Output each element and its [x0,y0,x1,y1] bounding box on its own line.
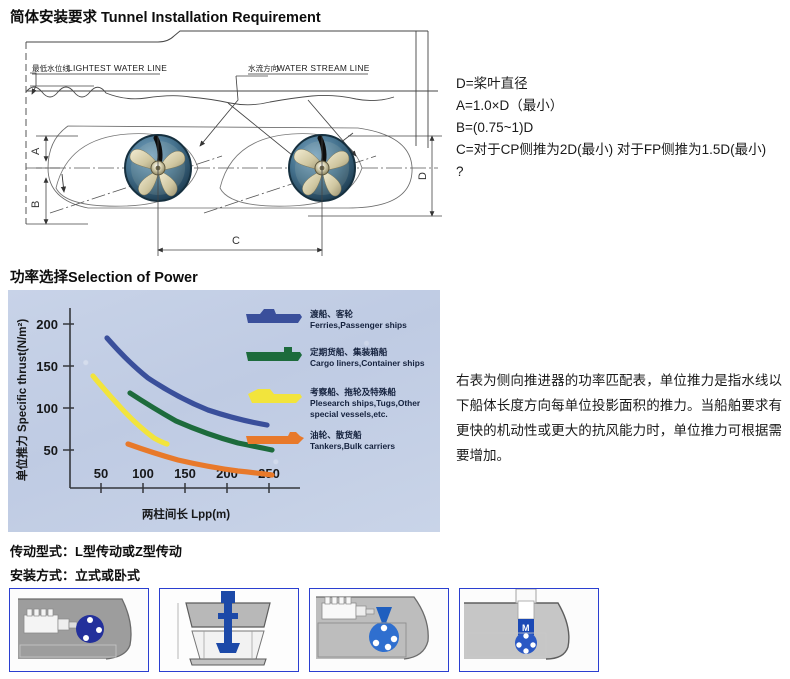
svg-text:M: M [522,623,530,633]
chart-svg: 200 150 100 50 50 100 150 200 250 单位推力 S… [8,290,440,532]
tunnel-spec-list: D=桨叶直径 A=1.0×D（最小） B=(0.75~1)D C=对于CP侧推为… [456,73,786,183]
legend-label-cn-ferries: 渡船、客轮 [310,308,353,320]
x-tick-100: 100 [132,466,154,481]
spec-line-c: C=对于CP侧推为2D(最小) 对于FP侧推为1.5D(最小) [456,139,786,161]
y-tick-50: 50 [44,443,58,458]
legend-label-en-tankers: Tankers,Bulk carriers [310,441,395,451]
transmission-type-line: 传动型式：L型传动或Z型传动 [10,541,182,560]
specific-thrust-chart: 200 150 100 50 50 100 150 200 250 单位推力 S… [8,290,440,532]
tug-silhouette-icon [248,389,302,403]
dimension-a-label: A [30,147,42,155]
thumbnail-horizontal-engine-side-thruster[interactable] [9,588,149,672]
y-axis-title: 单位推力 Specific thrust(N/m²) [15,319,29,481]
y-tick-100: 100 [36,401,58,416]
ferry-silhouette-icon [246,309,302,323]
legend-label-en-tugs: Plesearch ships,Tugs,Other [310,398,421,408]
legend-item-cargo: 定期货船、集装箱船 Cargo liners,Container ships [246,346,425,368]
spec-line-question: ? [456,161,786,183]
tanker-silhouette-icon [246,432,304,444]
page-title-tunnel-installation: 简体安装要求 Tunnel Installation Requirement [10,6,321,27]
cargo-ship-silhouette-icon [246,347,302,361]
water-stream-line-label-cn: 水流方向 [248,63,278,73]
lightest-water-line-label-cn: 最低水位线 [32,63,70,73]
x-tick-50: 50 [94,466,108,481]
legend-label-cn-cargo: 定期货船、集装箱船 [310,346,388,358]
legend-label-en-ferries: Ferries,Passenger ships [310,320,407,330]
legend-label-cn-tankers: 油轮、散货船 [310,429,362,441]
power-selection-note: 右表为侧向推进器的功率匹配表，单位推力是指水线以下船体长度方向每单位投影面积的推… [456,368,782,468]
y-tick-150: 150 [36,359,58,374]
legend-label-en-tugs-2: special vessels,etc. [310,409,388,419]
thumbnail-vertical-mount-bow-thruster[interactable]: M [459,588,599,672]
thumbnail-horizontal-z-drive-side-view[interactable] [309,588,449,672]
installation-thumbnail-row: M [9,588,634,674]
legend-item-ferries: 渡船、客轮 Ferries,Passenger ships [246,308,407,330]
page-title-selection-of-power: 功率选择Selection of Power [10,266,198,287]
dimension-b-label: B [30,201,42,208]
legend-item-tugs: 考察船、拖轮及特殊船 Plesearch ships,Tugs,Other sp… [248,386,421,419]
dimension-d-label: D [417,172,429,180]
mounting-type-line: 安装方式：立式或卧式 [10,565,140,584]
lightest-water-line-label-en: LIGHTEST WATER LINE [68,63,167,73]
x-tick-150: 150 [174,466,196,481]
x-axis-title: 两柱间长 Lpp(m) [142,507,230,521]
y-tick-200: 200 [36,317,58,332]
legend-label-en-cargo: Cargo liners,Container ships [310,358,425,368]
spec-line-a: A=1.0×D（最小） [456,95,786,117]
water-stream-line-label-en: WATER STREAM LINE [277,63,370,73]
dimension-c-label: C [232,235,240,247]
tunnel-installation-drawing: 最低水位线 LIGHTEST WATER LINE 水流方向 WATER STR… [8,28,448,260]
legend-label-cn-tugs: 考察船、拖轮及特殊船 [310,386,396,398]
document-page: 简体安装要求 Tunnel Installation Requirement [0,0,790,679]
spec-line-b: B=(0.75~1)D [456,117,786,139]
series-curve-ferries [107,338,267,425]
spec-line-d: D=桨叶直径 [456,73,786,95]
thumbnail-vertical-l-drive-section[interactable] [159,588,299,672]
